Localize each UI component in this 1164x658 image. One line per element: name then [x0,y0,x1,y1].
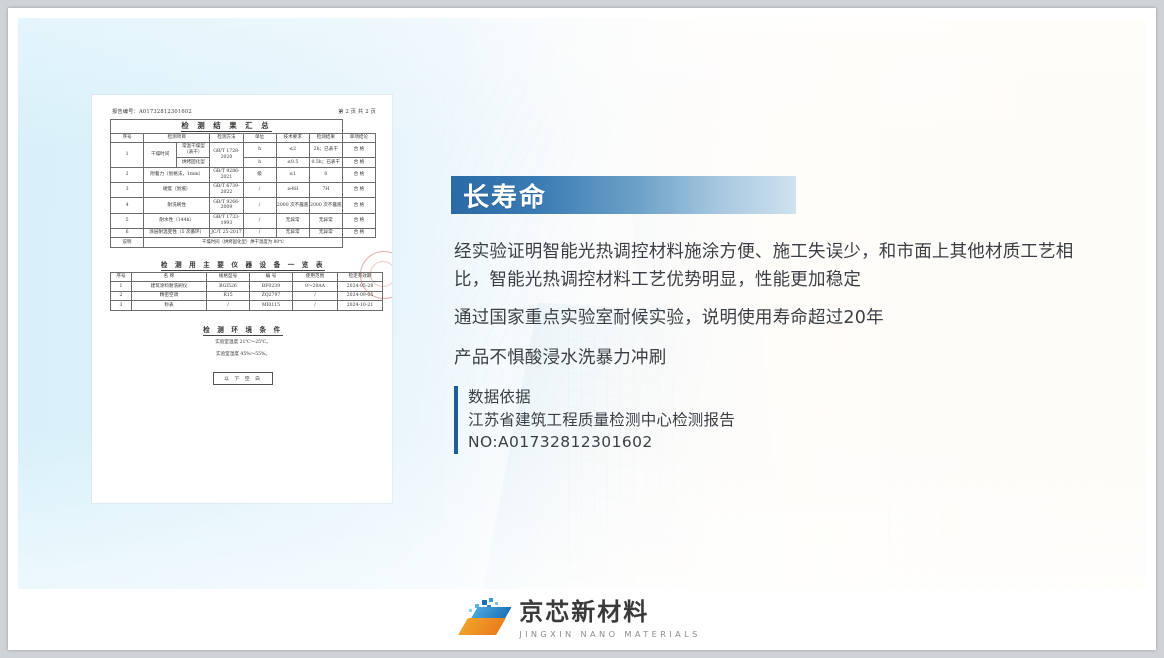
cell-unit: h [243,158,276,168]
cell-verdict: 合 格 [342,228,375,238]
eq-cell-no: 1 [111,282,132,292]
cell-requirement: ≥4H [276,183,309,198]
citation-source: 江苏省建筑工程质量检测中心检测报告 [468,409,735,432]
citation-block: 数据依据 江苏省建筑工程质量检测中心检测报告 NO:A0173281230160… [454,386,735,454]
col-result: 检测结果 [309,133,342,143]
cell-unit: 级 [243,167,276,182]
table-row: 5 耐水性（144h） GB/T 1733-1993 / 无异常 无异常 合 格 [111,213,376,228]
eq-col-model: 规格型号 [207,272,250,282]
logo-orange-slab [458,618,506,635]
cell-item: 耐洗刷性 [144,198,210,213]
slide-margin-right [1146,8,1156,589]
section-title-bar: 长寿命 [451,176,796,214]
eq-cell-model: R15 [207,291,250,301]
cell-no: 1 [111,143,144,168]
cell-result: 无异常 [309,213,342,228]
cell-verdict: 合 格 [342,183,375,198]
report-number: 报告编号：A01732812301602 [112,108,192,115]
cell-requirement: ≤2 [276,143,309,158]
eq-col-serial: 编 号 [250,272,293,282]
table-row: 2 精密空调 R15 ZQ2797 / 2024-09-05 [111,291,383,301]
eq-cell-name: 秒表 [132,301,207,311]
paragraph-3: 产品不惧酸浸水洗暴力冲刷 [454,344,1104,372]
cell-unit: / [243,183,276,198]
paragraph-1: 经实验证明智能光热调控材料施涂方便、施工失误少，和市面上其他材质工艺相比，智能光… [454,238,1104,294]
col-unit: 单位 [243,133,276,143]
cell-item: 耐水性（144h） [144,213,210,228]
cell-requirement: ≤1 [276,167,309,182]
eq-cell-range: / [293,301,338,311]
eq-cell-range: 0～20AA [293,282,338,292]
logo-english-name: JINGXIN NANO MATERIALS [519,629,700,639]
cell-method: GB/T 6739-2022 [210,183,243,198]
col-item: 检测项目 [144,133,210,143]
eq-cell-valid: 2024-10-21 [338,301,383,311]
cell-result: 无异常 [309,228,342,238]
test-report-image[interactable]: 报告编号：A01732812301602 第 2 页 共 2 页 检 测 结 果… [92,95,392,503]
cell-verdict: 合 格 [342,143,375,158]
eq-cell-serial: BF0239 [250,282,293,292]
cell-requirement: 无异常 [276,228,309,238]
environment-title: 检 测 环 境 条 件 [203,326,283,336]
citation-number: NO:A01732812301602 [468,431,735,454]
cell-item-group: 干燥时间 [144,143,177,168]
eq-col-no: 序号 [111,272,132,282]
eq-cell-model: BGI526 [207,282,250,292]
cell-requirement: 无异常 [276,213,309,228]
page-title: 长寿命 [463,177,547,214]
cell-no: 4 [111,198,144,213]
cell-unit: h [243,143,276,158]
cell-item: 烘烤固化型 [177,158,210,168]
report-page: 第 2 页 共 2 页 [338,108,376,115]
cell-unit: / [243,198,276,213]
blank-below-box: 以 下 空 白 [213,372,273,385]
eq-cell-name: 精密空调 [132,291,207,301]
eq-cell-serial: ZQ2797 [250,291,293,301]
cell-method: GB/T 9266-2009 [210,198,243,213]
slide-margin-left [8,8,18,589]
cell-unit: / [243,228,276,238]
col-no: 序号 [111,133,144,143]
eq-cell-serial: MI0115 [250,301,293,311]
table-row: 2 附着力（划格法，1mm） GB/T 9286-2021 级 ≤1 0 合 格 [111,167,376,182]
environment-line-1: 实验室温度 21℃～25℃。 [110,339,376,346]
cell-requirement: ≤0.5 [276,158,309,168]
eq-cell-no: 3 [111,301,132,311]
cell-method: GB/T 1733-1993 [210,213,243,228]
company-logo: 京芯新材料 JINGXIN NANO MATERIALS [463,598,700,642]
cell-result: 2000 次不露底 [309,198,342,213]
cell-verdict: 合 格 [342,213,375,228]
eq-cell-name: 建筑涂料耐洗刷仪 [132,282,207,292]
result-table-title: 检 测 结 果 汇 总 [181,121,271,132]
eq-cell-no: 2 [111,291,132,301]
paragraph-2: 通过国家重点实验室耐候实验，说明使用寿命超过20年 [454,304,1104,332]
citation-label: 数据依据 [468,386,735,409]
cell-item: 涂层耐温变性（5 次循环） [144,228,210,238]
cell-no: 2 [111,167,144,182]
environment-section: 检 测 环 境 条 件 实验室温度 21℃～25℃。 实验室湿度 45%～55%… [110,324,376,358]
table-row: 4 耐洗刷性 GB/T 9266-2009 / 2000 次不露底 2000 次… [111,198,376,213]
note-value: 干燥时间（烘烤固化型）烘干温度为 80℃ [144,238,343,247]
report-header: 报告编号：A01732812301602 第 2 页 共 2 页 [112,105,376,117]
table-row: 3 秒表 / MI0115 / 2024-10-21 [111,301,383,311]
col-requirement: 技术要求 [276,133,309,143]
cell-method: GB/T 1728-2020 [210,143,243,168]
col-method: 检测方法 [210,133,243,143]
col-verdict: 单项结论 [342,133,375,143]
cell-result: 7H [309,183,342,198]
cell-method: GB/T 9286-2021 [210,167,243,182]
cell-method: JC/T 25-2017 [210,228,243,238]
logo-chinese-name: 京芯新材料 [519,600,700,625]
cell-result: 2h；已表干 [309,143,342,158]
cell-verdict: 合 格 [342,167,375,182]
table-row: 1 干燥时间 常温干燥型（表干） GB/T 1728-2020 h ≤2 2h；… [111,143,376,158]
cell-result: 0.5h；已表干 [309,158,342,168]
footer-bar: 京芯新材料 JINGXIN NANO MATERIALS [8,589,1156,650]
equipment-table-title: 检 测 用 主 要 仪 器 设 备 一 览 表 [110,259,376,269]
logo-mark-icon [463,598,509,642]
slide-canvas: 报告编号：A01732812301602 第 2 页 共 2 页 检 测 结 果… [8,8,1156,650]
eq-col-name: 名 称 [132,272,207,282]
eq-col-range: 使用范围 [293,272,338,282]
equipment-table: 序号 名 称 规格型号 编 号 使用范围 检定有效期 1 建筑涂料耐洗刷仪 BG… [110,272,383,311]
result-table-header-row: 序号 检测项目 检测方法 单位 技术要求 检测结果 单项结论 [111,133,376,143]
table-row: 6 涂层耐温变性（5 次循环） JC/T 25-2017 / 无异常 无异常 合… [111,228,376,238]
table-row: 1 建筑涂料耐洗刷仪 BGI526 BF0239 0～20AA 2024-05-… [111,282,383,292]
cell-no: 5 [111,213,144,228]
cell-no: 3 [111,183,144,198]
cell-unit: / [243,213,276,228]
result-table-title-row: 检 测 结 果 汇 总 [111,120,376,134]
environment-line-2: 实验室湿度 45%～55%。 [110,351,376,358]
eq-cell-range: / [293,291,338,301]
cell-item: 附着力（划格法，1mm） [144,167,210,182]
eq-cell-model: / [207,301,250,311]
content-column: 长寿命 经实验证明智能光热调控材料施涂方便、施工失误少，和市面上其他材质工艺相比… [451,8,1131,589]
note-key: 说明 [111,238,144,247]
result-summary-table: 检 测 结 果 汇 总 序号 检测项目 检测方法 单位 技术要求 检测结果 单项… [110,119,376,248]
cell-item: 常温干燥型（表干） [177,143,210,158]
cell-requirement: 2000 次不露底 [276,198,309,213]
cell-no: 6 [111,228,144,238]
cell-verdict: 合 格 [342,158,375,168]
cell-item: 硬度（划痕） [144,183,210,198]
cell-verdict: 合 格 [342,198,375,213]
cell-result: 0 [309,167,342,182]
equipment-header-row: 序号 名 称 规格型号 编 号 使用范围 检定有效期 [111,272,383,282]
table-row: 3 硬度（划痕） GB/T 6739-2022 / ≥4H 7H 合 格 [111,183,376,198]
result-table-note-row: 说明 干燥时间（烘烤固化型）烘干温度为 80℃ [111,238,376,247]
